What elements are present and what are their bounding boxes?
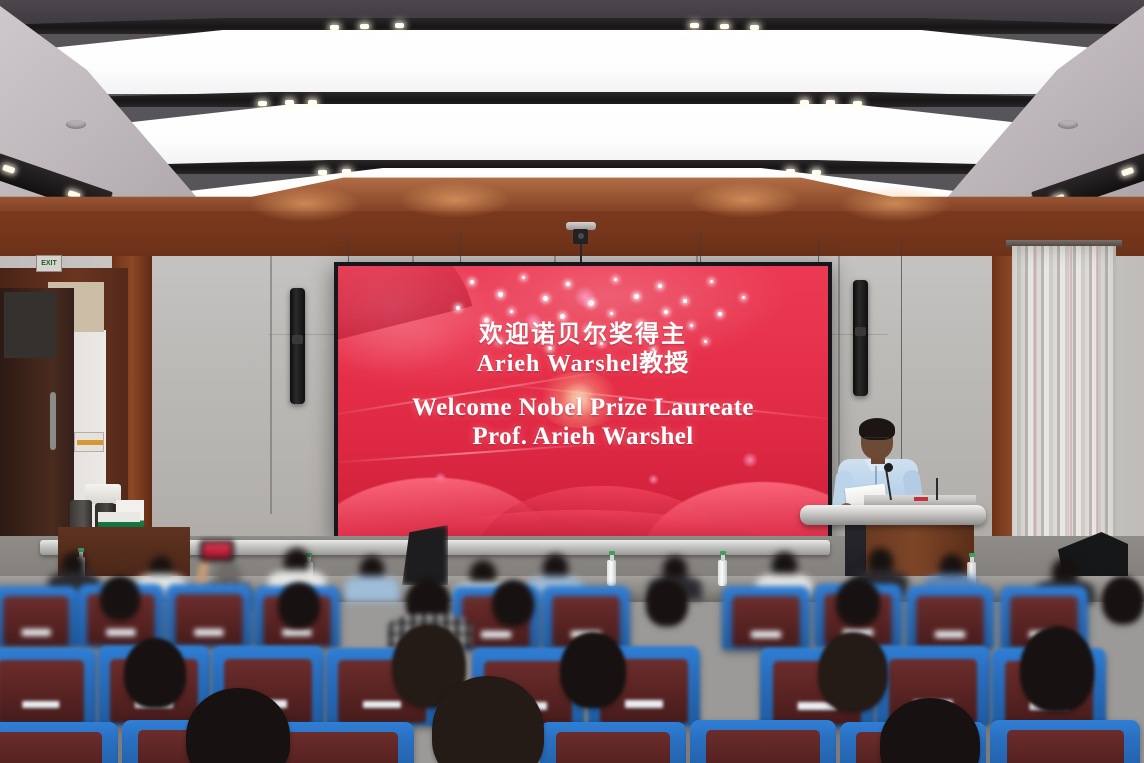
water-bottle	[718, 560, 727, 586]
wall-panel-seam	[270, 214, 272, 514]
screen-sparkle	[718, 312, 722, 316]
screen-sparkle	[510, 310, 513, 313]
ceiling-spotlight	[750, 25, 759, 30]
seat-back-panel	[1007, 730, 1124, 763]
exit-sign: EXIT	[36, 255, 62, 272]
screen-sparkle	[560, 314, 565, 319]
ceiling-spotlight	[285, 100, 294, 105]
seat-back-panel	[556, 732, 670, 763]
podium-indicator	[914, 497, 928, 501]
screen-line-cn-2: Arieh Warshel教授	[338, 350, 828, 379]
ceiling-spotlight	[826, 100, 835, 105]
led-display-frame: 欢迎诺贝尔奖得主 Arieh Warshel教授 Welcome Nobel P…	[334, 262, 832, 540]
auditorium-seat[interactable]	[990, 720, 1140, 763]
door-handle[interactable]	[50, 392, 56, 450]
seat-number-label	[194, 629, 223, 636]
cornice-uplight-glow	[400, 182, 510, 218]
screen-sparkle	[683, 299, 687, 303]
seat-number-label	[106, 629, 135, 636]
auditorium-seat[interactable]	[906, 586, 994, 650]
seat-number-label	[625, 700, 663, 707]
ceiling-spotlight	[853, 101, 862, 106]
seat-back-panel	[0, 732, 102, 763]
audience-head	[1020, 626, 1094, 712]
screen-sparkle	[664, 310, 668, 314]
seat-number-label	[935, 631, 965, 638]
smartphone[interactable]	[200, 540, 234, 561]
screen-sparkle	[470, 280, 474, 284]
screen-sparkle	[614, 278, 617, 281]
ceiling-spotlight	[330, 25, 339, 30]
seat-back-panel	[3, 596, 69, 646]
audience-shoulders	[344, 576, 400, 602]
auditorium-seat[interactable]	[690, 720, 836, 763]
auditorium-seat[interactable]	[166, 584, 252, 648]
audience-head	[124, 638, 186, 708]
audience-head	[646, 580, 688, 626]
curtain-stripe	[1096, 246, 1098, 576]
screen-sparkle	[742, 296, 745, 299]
smoke-detector	[1058, 120, 1078, 129]
screen-sparkle	[543, 296, 548, 301]
audience-head	[818, 632, 888, 712]
audience-head	[492, 580, 534, 626]
led-display: 欢迎诺贝尔奖得主 Arieh Warshel教授 Welcome Nobel P…	[338, 266, 828, 536]
camera-pole	[580, 244, 582, 264]
audience-head	[836, 578, 880, 626]
screen-sparkle	[610, 312, 613, 315]
seat-number-label	[22, 629, 51, 636]
microphone-stem-secondary	[936, 478, 938, 500]
ceiling-spotlight	[258, 101, 267, 106]
screen-sparkle	[710, 280, 713, 283]
door-vision-panel	[4, 292, 56, 358]
screen-sparkle	[658, 284, 662, 288]
notice-bar	[77, 440, 103, 445]
vent-light	[2, 164, 15, 174]
smartphone-screen	[203, 543, 231, 558]
auditorium-seat[interactable]	[0, 586, 78, 648]
glasses-icon	[864, 437, 889, 442]
wall-speaker-right	[853, 280, 868, 396]
audience-head	[100, 576, 140, 620]
cornice-uplight-glow	[690, 182, 800, 218]
cornice-uplight-glow	[250, 186, 360, 222]
screen-text-block: 欢迎诺贝尔奖得主 Arieh Warshel教授 Welcome Nobel P…	[338, 322, 828, 452]
bottle-cap	[969, 553, 975, 557]
audience-head	[1102, 576, 1144, 624]
ceiling-spotlight	[360, 24, 369, 29]
auditorium-seat[interactable]	[540, 722, 686, 763]
screen-sparkle	[634, 294, 639, 299]
seat-number-label	[282, 629, 311, 636]
auditorium-seat[interactable]	[0, 722, 118, 763]
suspension-cable	[901, 236, 902, 496]
ceiling-spotlight	[318, 170, 327, 175]
screen-sparkle	[456, 306, 460, 310]
auditorium-seat[interactable]	[722, 586, 810, 650]
ceiling-spotlight	[800, 100, 809, 105]
microphone-icon	[884, 463, 893, 472]
ceiling-spotlight	[786, 169, 795, 174]
screen-line-cn-1: 欢迎诺贝尔奖得主	[338, 322, 828, 350]
screen-line-en-1: Welcome Nobel Prize Laureate	[338, 393, 828, 423]
ceiling-spotlight	[395, 23, 404, 28]
ceiling-light-panel-2	[0, 104, 1144, 166]
camera-lens-icon	[578, 233, 584, 239]
screen-sparkle	[522, 276, 525, 279]
screen-bokeh	[742, 452, 758, 468]
screen-bokeh	[574, 286, 596, 308]
audience-head	[560, 632, 626, 708]
screen-sparkle	[498, 292, 503, 297]
ceiling-spotlight	[342, 169, 351, 174]
seat-number-label	[22, 701, 59, 708]
wall-speaker-left	[290, 288, 305, 404]
bottle-cap	[609, 551, 615, 555]
vent-light	[1121, 167, 1134, 177]
seat-back-panel	[175, 594, 242, 645]
seat-back-panel	[916, 596, 985, 647]
seat-back-panel	[732, 596, 801, 647]
podium-rail	[800, 505, 986, 525]
bottle-cap	[720, 551, 726, 555]
screen-line-en-2: Prof. Arieh Warshel	[338, 422, 828, 452]
auditorium-scene: EXIT	[0, 0, 1144, 763]
audience-head	[278, 582, 320, 628]
ceiling-spotlight	[308, 100, 317, 105]
ceiling-spotlight	[812, 170, 821, 175]
curtain-stripe	[1034, 246, 1036, 576]
auditorium-seat[interactable]	[270, 722, 414, 763]
ceiling-spotlight	[690, 23, 699, 28]
seat-back-panel	[286, 732, 398, 763]
suspension-cable	[700, 232, 701, 266]
cornice-uplight-glow	[840, 186, 950, 222]
seat-number-label	[751, 631, 781, 638]
water-kettle	[70, 500, 92, 530]
window-curtain[interactable]	[1012, 246, 1116, 576]
seat-back-panel	[0, 660, 84, 722]
bottle-cap	[78, 548, 84, 552]
ceiling-light-panel-1	[0, 30, 1144, 94]
screen-bokeh	[648, 474, 659, 485]
screen-sparkle	[566, 282, 570, 286]
suspension-cable	[460, 232, 461, 266]
wall-notice-plate	[74, 432, 104, 452]
smoke-detector	[66, 120, 86, 129]
seat-number-label	[363, 701, 401, 708]
ceiling-spotlight	[720, 24, 729, 29]
exit-sign-label: EXIT	[41, 260, 57, 267]
seat-back-panel	[706, 730, 820, 763]
seat-number-label	[481, 631, 511, 638]
water-bottle	[607, 560, 616, 586]
curtain-stripe	[1070, 246, 1072, 576]
auditorium-seat[interactable]	[0, 648, 96, 726]
